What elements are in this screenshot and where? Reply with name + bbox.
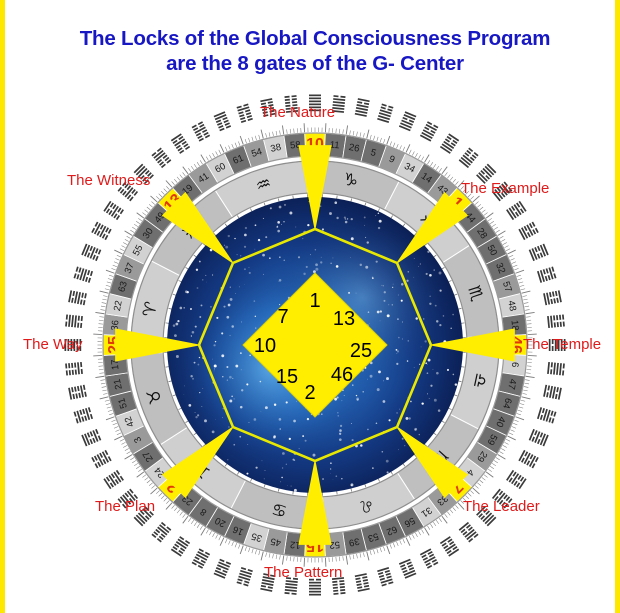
tick-mark <box>350 130 351 134</box>
tick-mark <box>377 549 378 553</box>
tick-mark <box>343 129 344 133</box>
tick-mark <box>114 427 118 429</box>
tick-mark <box>259 551 260 555</box>
star <box>322 228 324 230</box>
star <box>414 367 415 368</box>
tick-mark <box>266 133 267 137</box>
star <box>351 483 354 486</box>
star <box>397 350 399 352</box>
hexagram-glyph <box>529 244 549 261</box>
hexagram-glyph <box>529 429 549 446</box>
tick-mark <box>132 227 136 229</box>
tick-mark <box>134 463 138 466</box>
star <box>430 385 432 387</box>
tick-mark <box>380 548 381 552</box>
tick-mark <box>473 488 480 494</box>
tick-mark <box>216 152 218 156</box>
tick-mark <box>475 485 478 488</box>
tick-mark <box>107 282 111 283</box>
tick-mark <box>269 553 270 557</box>
tick-mark <box>520 403 524 404</box>
tick-mark <box>95 312 104 313</box>
star <box>205 275 206 276</box>
tick-mark <box>480 207 483 210</box>
hexagram-glyph <box>440 133 459 154</box>
tick-mark <box>149 204 152 207</box>
tick-mark <box>427 160 429 164</box>
star <box>414 258 415 259</box>
star <box>408 417 410 419</box>
tick-mark <box>109 413 113 414</box>
star <box>224 245 225 246</box>
mandala-page: The Locks of the Global Consciousness Pr… <box>0 0 620 613</box>
star <box>195 326 197 328</box>
tick-mark <box>523 299 527 300</box>
lock-label-the-nature: The Nature <box>260 104 335 121</box>
star <box>383 381 384 382</box>
star <box>341 400 342 401</box>
tick-mark <box>498 231 506 236</box>
tick-mark <box>525 310 529 311</box>
tick-mark <box>504 246 508 248</box>
star <box>281 224 282 225</box>
star <box>370 375 373 378</box>
star <box>286 401 288 403</box>
star <box>286 464 287 465</box>
tick-mark <box>403 539 405 543</box>
star <box>379 220 382 223</box>
star <box>332 257 333 258</box>
tick-mark <box>439 518 442 522</box>
star <box>416 317 418 319</box>
tick-mark <box>201 155 206 163</box>
mandala-svg: 1011265934144314428503257481846647644059… <box>5 0 620 613</box>
tick-mark <box>183 516 188 523</box>
tick-mark <box>526 317 530 318</box>
star <box>345 218 346 219</box>
star <box>214 370 215 371</box>
tick-mark <box>367 130 369 139</box>
tick-mark <box>188 168 191 172</box>
tick-mark <box>400 540 402 544</box>
tick-mark <box>101 306 105 307</box>
star <box>261 411 262 412</box>
star <box>435 305 437 307</box>
star <box>303 273 305 275</box>
star <box>423 318 424 319</box>
tick-mark <box>504 442 508 444</box>
star <box>367 379 368 380</box>
tick-mark <box>523 390 527 391</box>
tick-mark <box>109 275 113 276</box>
hexagram-glyph <box>459 522 479 543</box>
hexagram-glyph <box>192 121 210 141</box>
tick-mark <box>501 239 505 241</box>
star <box>313 454 316 457</box>
tick-mark <box>125 231 133 236</box>
tick-mark <box>373 136 374 140</box>
tick-mark <box>180 175 183 179</box>
star <box>291 486 292 487</box>
tick-mark <box>156 491 159 494</box>
tick-mark <box>245 547 246 551</box>
star <box>231 325 233 327</box>
star <box>401 283 404 286</box>
hexagram-glyph <box>214 559 231 579</box>
tick-mark <box>238 141 240 145</box>
star <box>249 355 251 357</box>
star <box>221 354 224 357</box>
tick-mark <box>513 265 517 267</box>
tick-mark <box>225 147 227 151</box>
star <box>440 290 442 292</box>
star <box>344 395 345 396</box>
tick-mark <box>403 147 405 151</box>
tick-mark <box>370 551 371 555</box>
tick-mark <box>130 230 134 232</box>
star <box>330 263 331 264</box>
tick-mark <box>99 317 103 318</box>
tick-mark <box>433 164 436 168</box>
tick-mark <box>123 445 127 447</box>
tick-mark <box>151 488 158 494</box>
tick-mark <box>145 210 149 213</box>
tick-mark <box>100 397 109 399</box>
tick-mark <box>521 289 525 290</box>
star <box>180 307 183 310</box>
star <box>307 418 309 420</box>
star <box>216 317 218 319</box>
tick-mark <box>188 518 191 522</box>
star <box>341 478 342 479</box>
g-center-number-bottom: 2 <box>304 382 315 404</box>
star <box>376 261 378 263</box>
star <box>399 409 400 410</box>
star <box>289 212 292 215</box>
tick-mark <box>100 380 104 381</box>
tick-mark <box>255 136 256 140</box>
lock-label-the-witness: The Witness <box>67 172 150 189</box>
star <box>453 374 455 376</box>
star <box>351 423 352 424</box>
tick-mark <box>125 448 129 450</box>
hexagram-glyph <box>65 314 83 328</box>
star <box>223 306 225 308</box>
tick-mark <box>200 526 202 530</box>
star <box>377 388 380 391</box>
star <box>357 399 359 401</box>
tick-mark <box>125 455 133 460</box>
tick-mark <box>136 466 140 469</box>
star <box>191 335 192 336</box>
star <box>265 236 267 238</box>
tick-mark <box>228 145 230 149</box>
tick-mark <box>496 230 500 232</box>
star <box>392 304 393 305</box>
tick-mark <box>200 160 202 164</box>
star <box>401 300 403 302</box>
star <box>214 364 217 367</box>
lock-label-the-plan: The Plan <box>95 498 155 515</box>
tick-mark <box>261 552 263 561</box>
star <box>425 362 427 364</box>
tick-mark <box>512 427 516 429</box>
star <box>414 428 417 431</box>
tick-mark <box>380 138 381 142</box>
star <box>376 422 378 424</box>
tick-mark <box>220 538 224 546</box>
tick-mark <box>106 270 114 273</box>
hexagram-glyph <box>377 567 393 586</box>
star <box>262 254 265 257</box>
star <box>225 246 228 249</box>
star <box>226 316 229 319</box>
tick-mark <box>102 299 106 300</box>
tick-mark <box>418 155 420 159</box>
hexagram-glyph <box>309 579 321 596</box>
star <box>276 226 278 228</box>
tick-mark <box>206 157 208 161</box>
tick-mark <box>273 132 274 136</box>
wheel-gate-number-21: 21 <box>112 378 125 391</box>
star <box>380 310 382 312</box>
tick-mark <box>522 393 526 394</box>
star <box>177 320 179 322</box>
star <box>383 285 384 286</box>
star <box>402 321 403 322</box>
tick-mark <box>400 145 402 149</box>
tick-mark <box>518 278 522 279</box>
tick-mark <box>525 306 529 307</box>
tick-mark <box>117 255 121 257</box>
star <box>245 227 247 229</box>
star <box>293 459 295 461</box>
star <box>364 225 365 226</box>
tick-mark <box>142 213 146 216</box>
tick-mark <box>517 275 521 276</box>
wheel-gate-number-38: 38 <box>270 142 283 155</box>
tick-mark <box>506 439 510 441</box>
star <box>235 365 238 368</box>
star <box>284 204 286 206</box>
tick-mark <box>252 137 253 141</box>
star <box>384 291 386 293</box>
star <box>263 218 264 219</box>
tick-mark <box>517 413 521 414</box>
tick-mark <box>117 433 121 435</box>
tick-mark <box>346 125 347 134</box>
hexagram-glyph <box>103 201 124 220</box>
star <box>212 359 213 360</box>
tick-mark <box>453 179 456 182</box>
hexagram-glyph <box>74 407 93 423</box>
hexagram-glyph <box>91 450 111 468</box>
tick-mark <box>177 510 180 513</box>
star <box>278 281 279 282</box>
tick-mark <box>415 153 417 157</box>
tick-mark <box>363 133 364 137</box>
tick-mark <box>216 534 218 538</box>
tick-mark <box>127 236 131 238</box>
tick-mark <box>418 531 420 535</box>
star <box>175 323 178 326</box>
tick-mark <box>220 144 224 152</box>
tick-mark <box>522 291 531 293</box>
tick-mark <box>151 196 158 202</box>
star <box>196 269 198 271</box>
star <box>303 238 304 239</box>
star <box>421 347 422 348</box>
star <box>263 274 264 275</box>
tick-mark <box>433 522 436 526</box>
tick-mark <box>235 143 237 147</box>
tick-mark <box>508 436 516 440</box>
tick-mark <box>450 510 453 513</box>
star <box>339 429 342 432</box>
tick-mark <box>367 552 369 561</box>
star <box>419 364 420 365</box>
tick-mark <box>174 507 177 510</box>
star <box>269 257 271 259</box>
tick-mark <box>353 131 354 135</box>
star <box>428 359 431 362</box>
star <box>429 303 431 305</box>
star <box>265 470 266 471</box>
tick-mark <box>127 452 131 454</box>
star <box>279 418 282 421</box>
tick-mark <box>492 224 496 227</box>
star <box>407 360 409 362</box>
tick-mark <box>477 204 480 207</box>
star <box>455 383 457 385</box>
tick-mark <box>151 202 154 205</box>
tick-mark <box>102 387 106 388</box>
star <box>351 218 353 220</box>
wheel-gate-number-48: 48 <box>505 300 518 313</box>
tick-mark <box>445 172 448 176</box>
star <box>244 284 245 285</box>
tick-mark <box>100 291 109 293</box>
tick-mark <box>518 410 522 411</box>
g-center-number-lower-right: 46 <box>331 364 353 386</box>
hexagram-glyph <box>192 548 210 568</box>
star <box>351 485 352 486</box>
star <box>365 237 366 238</box>
tick-mark <box>527 369 531 370</box>
star <box>255 328 256 329</box>
tick-mark <box>147 480 150 483</box>
star <box>256 467 258 469</box>
star <box>375 215 376 216</box>
tick-mark <box>106 403 110 404</box>
tick-mark <box>166 503 172 510</box>
star <box>280 481 281 482</box>
tick-mark <box>468 493 471 496</box>
star <box>235 293 236 294</box>
star <box>322 478 323 479</box>
hexagram-glyph <box>237 567 253 586</box>
star <box>406 280 408 282</box>
tick-mark <box>494 227 498 229</box>
star <box>222 417 223 418</box>
star <box>307 224 309 226</box>
star <box>333 479 334 480</box>
tick-mark <box>122 442 126 444</box>
tick-mark <box>122 246 126 248</box>
star <box>202 388 203 389</box>
tick-mark <box>273 554 274 558</box>
tick-mark <box>499 236 503 238</box>
tick-mark <box>406 538 410 546</box>
tick-mark <box>450 177 453 180</box>
star <box>199 316 201 318</box>
tick-mark <box>290 129 291 133</box>
hexagram-glyph <box>420 548 438 568</box>
mandala-wheel: 1011265934144314428503257481846647644059… <box>5 0 620 613</box>
tick-mark <box>105 400 109 401</box>
tick-mark <box>425 155 430 163</box>
tick-mark <box>164 189 167 192</box>
star <box>429 398 430 399</box>
tick-mark <box>363 552 364 556</box>
star <box>214 368 215 369</box>
tick-mark <box>114 436 122 440</box>
tick-mark <box>95 376 104 377</box>
tick-mark <box>436 520 439 524</box>
hexagram-glyph <box>543 385 562 400</box>
star <box>215 341 216 342</box>
tick-mark <box>519 407 523 408</box>
star <box>296 401 297 402</box>
tick-mark <box>447 175 450 179</box>
star <box>382 451 384 453</box>
hexagram-glyph <box>103 470 124 489</box>
g-center-number-upper-left: 7 <box>277 306 288 328</box>
star <box>239 436 241 438</box>
star <box>282 467 283 468</box>
hexagram-glyph <box>65 362 83 376</box>
star <box>402 438 404 440</box>
tick-mark <box>339 129 340 133</box>
star <box>283 221 284 222</box>
star <box>305 440 307 442</box>
tick-mark <box>521 400 525 401</box>
tick-mark <box>180 512 183 516</box>
star <box>436 320 438 322</box>
tick-mark <box>252 549 253 553</box>
lock-label-the-temple: The Temple <box>523 336 601 353</box>
tick-mark <box>113 423 117 425</box>
tick-mark <box>113 265 117 267</box>
star <box>310 254 311 255</box>
tick-mark <box>103 393 107 394</box>
star <box>228 304 231 307</box>
star <box>241 389 243 391</box>
tick-mark <box>287 556 288 560</box>
tick-mark <box>266 552 267 556</box>
tick-mark <box>142 475 146 478</box>
star <box>419 434 420 435</box>
tick-mark <box>99 373 103 374</box>
tick-mark <box>390 544 392 548</box>
tick-mark <box>206 529 208 533</box>
tick-mark <box>439 168 442 172</box>
star <box>215 419 216 420</box>
tick-mark <box>106 285 110 286</box>
tick-mark <box>120 249 124 251</box>
star <box>413 277 414 278</box>
star <box>176 355 179 358</box>
